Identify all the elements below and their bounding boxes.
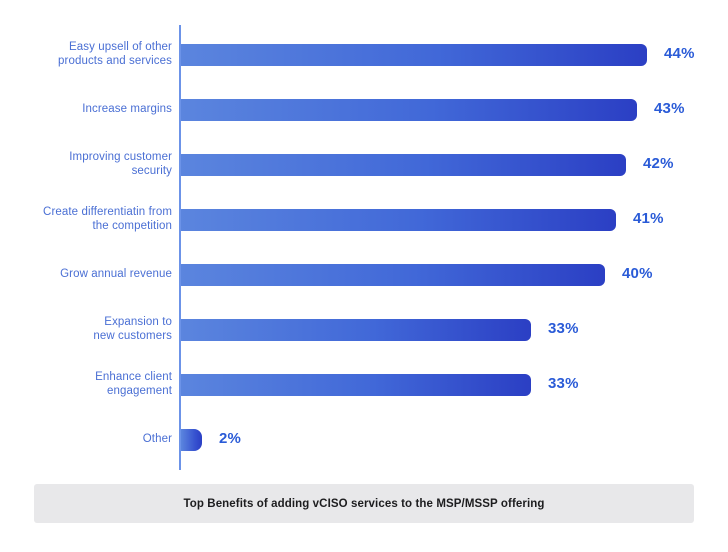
category-axis-line bbox=[179, 25, 181, 470]
bar-track bbox=[181, 374, 531, 396]
bar-category-label: Improving customer security bbox=[0, 150, 172, 178]
bar-row: Create differentiatin from the competiti… bbox=[0, 209, 728, 231]
bar-fill bbox=[181, 264, 605, 286]
bar-fill bbox=[181, 319, 531, 341]
bar-row: Increase margins43% bbox=[0, 99, 728, 121]
bar-track bbox=[181, 44, 647, 66]
bar-track bbox=[181, 99, 637, 121]
plot-area: Easy upsell of other products and servic… bbox=[0, 0, 728, 478]
chart-caption-bar: Top Benefits of adding vCISO services to… bbox=[34, 484, 694, 523]
bar-category-label: Enhance client engagement bbox=[0, 370, 172, 398]
bar-value-label: 40% bbox=[622, 265, 653, 282]
bar-value-label: 33% bbox=[548, 375, 579, 392]
bar-fill bbox=[181, 429, 202, 451]
bar-fill bbox=[181, 44, 647, 66]
bar-fill bbox=[181, 374, 531, 396]
bar-category-label: Increase margins bbox=[0, 102, 172, 116]
bar-row: Enhance client engagement33% bbox=[0, 374, 728, 396]
bar-chart-figure: Easy upsell of other products and servic… bbox=[0, 0, 728, 552]
bar-value-label: 33% bbox=[548, 320, 579, 337]
chart-caption-text: Top Benefits of adding vCISO services to… bbox=[183, 498, 544, 510]
bar-value-label: 43% bbox=[654, 100, 685, 117]
bar-track bbox=[181, 154, 626, 176]
bar-track bbox=[181, 264, 605, 286]
bar-category-label: Easy upsell of other products and servic… bbox=[0, 40, 172, 68]
bar-row: Easy upsell of other products and servic… bbox=[0, 44, 728, 66]
bar-fill bbox=[181, 209, 616, 231]
bar-row: Improving customer security42% bbox=[0, 154, 728, 176]
bar-value-label: 41% bbox=[633, 210, 664, 227]
bar-value-label: 2% bbox=[219, 430, 241, 447]
bar-track bbox=[181, 429, 202, 451]
bar-value-label: 42% bbox=[643, 155, 674, 172]
bar-category-label: Create differentiatin from the competiti… bbox=[0, 205, 172, 233]
bar-value-label: 44% bbox=[664, 45, 695, 62]
bar-row: Grow annual revenue40% bbox=[0, 264, 728, 286]
bar-fill bbox=[181, 154, 626, 176]
bar-category-label: Other bbox=[0, 432, 172, 446]
bar-track bbox=[181, 319, 531, 341]
bar-category-label: Grow annual revenue bbox=[0, 267, 172, 281]
bar-row: Other2% bbox=[0, 429, 728, 451]
bar-category-label: Expansion to new customers bbox=[0, 315, 172, 343]
bar-track bbox=[181, 209, 616, 231]
bar-row: Expansion to new customers33% bbox=[0, 319, 728, 341]
bar-fill bbox=[181, 99, 637, 121]
